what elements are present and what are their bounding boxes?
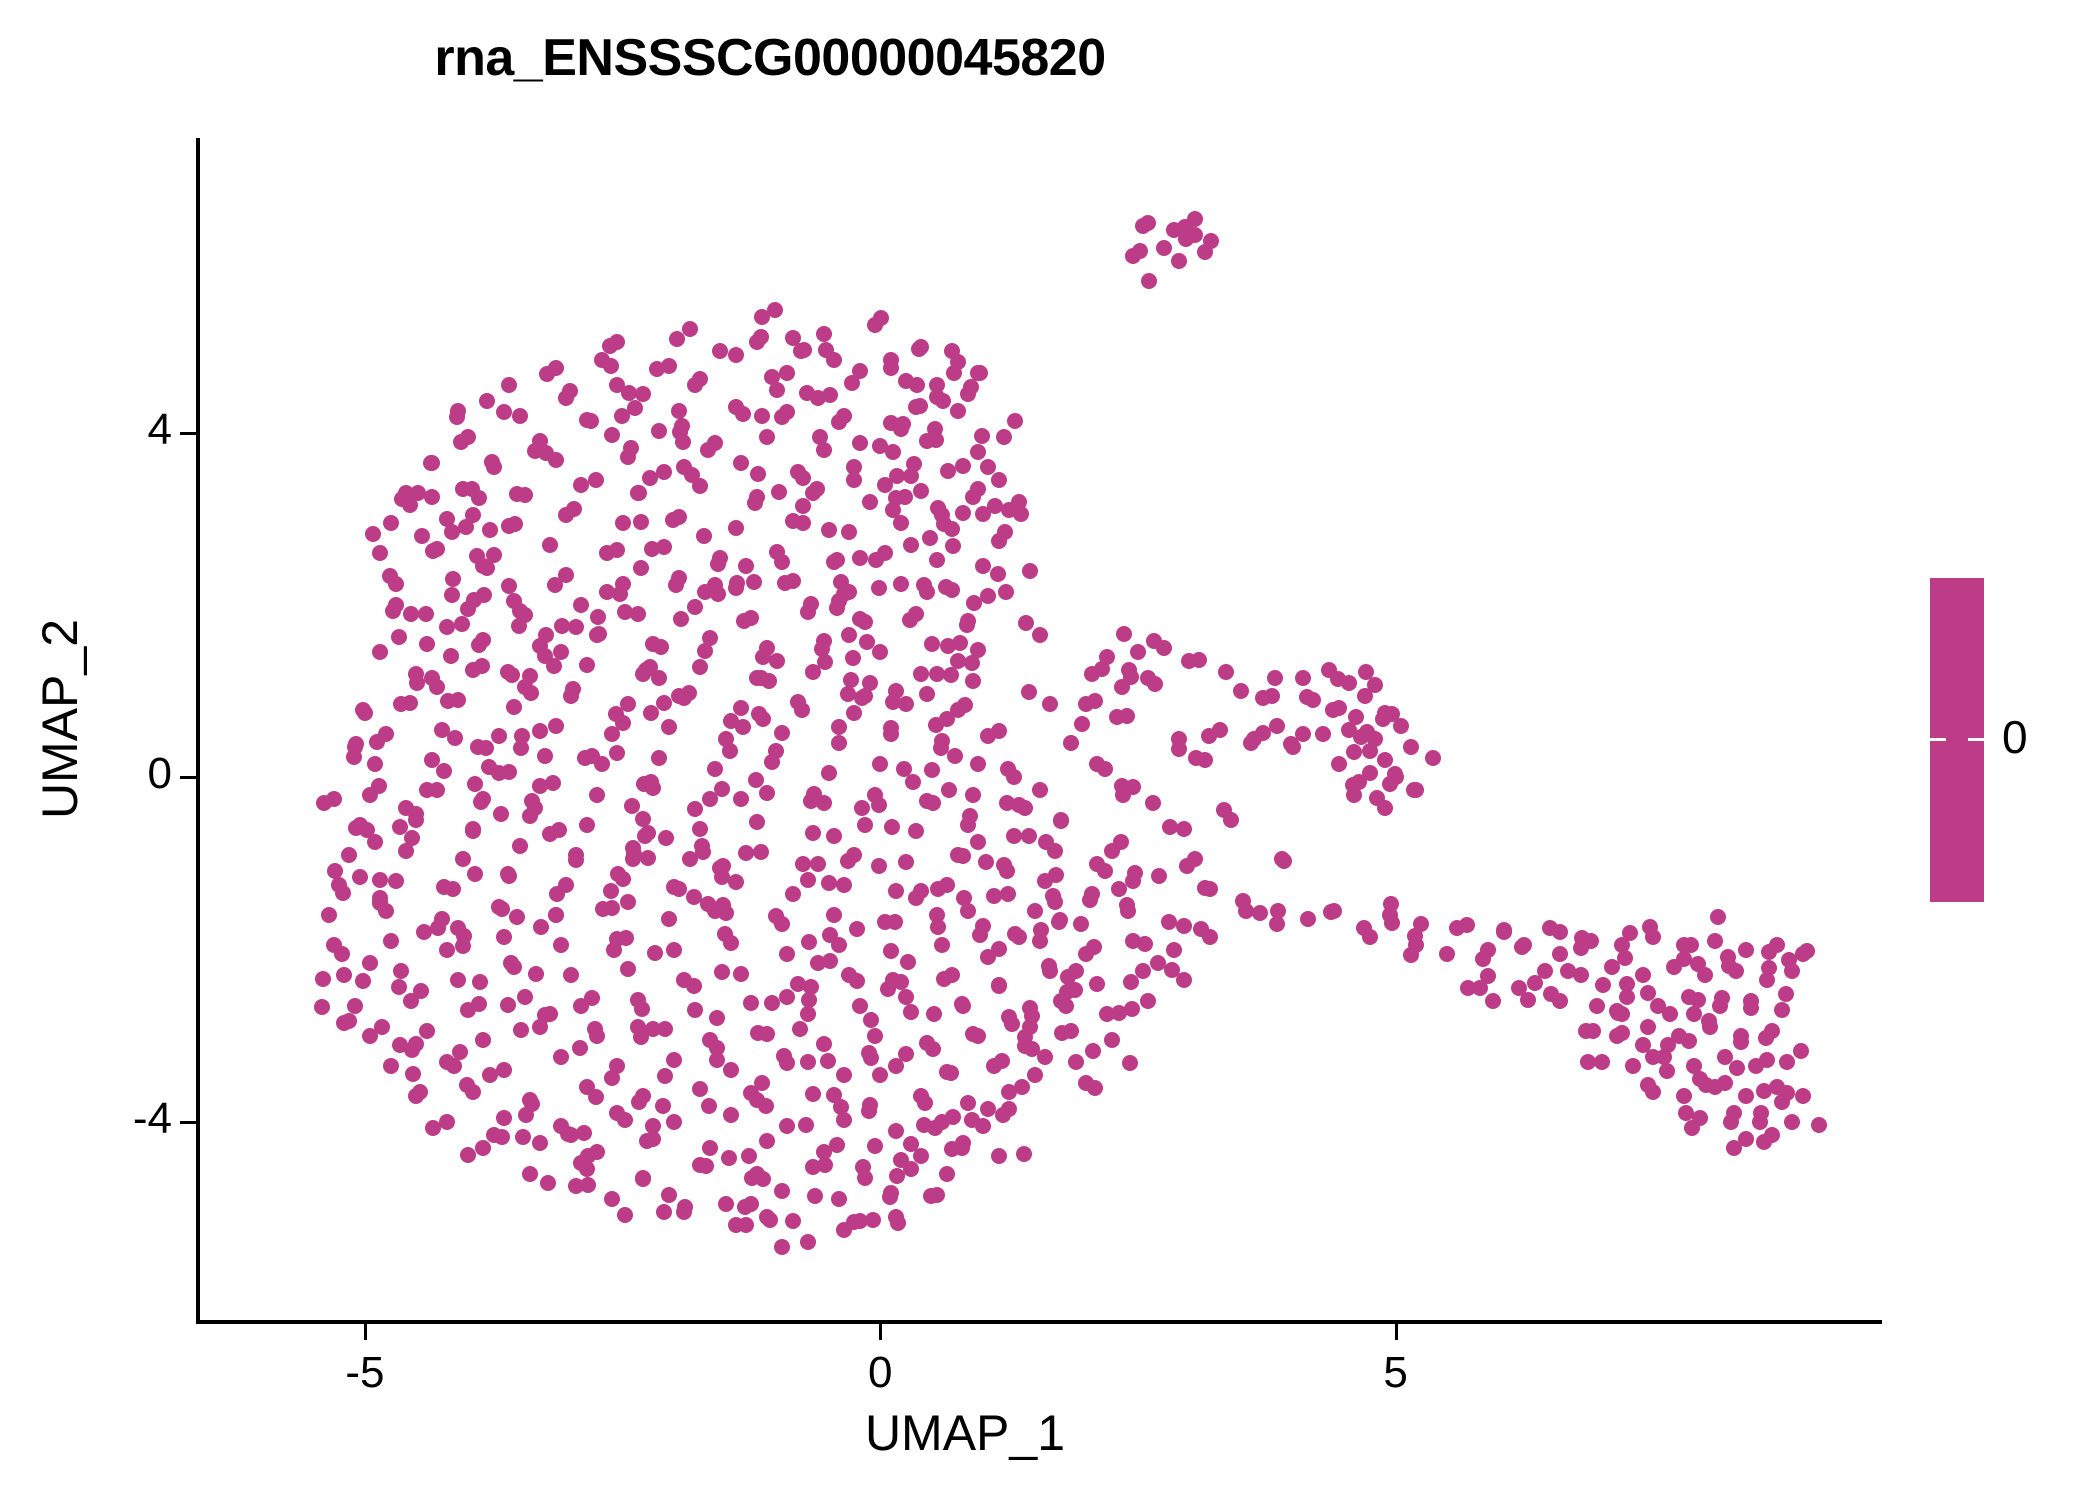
scatter-point — [1779, 1085, 1795, 1101]
scatter-point — [1459, 917, 1475, 933]
scatter-point — [568, 619, 584, 635]
scatter-point — [653, 639, 669, 655]
scatter-point — [1006, 828, 1022, 844]
scatter-point — [528, 966, 544, 982]
scatter-point — [844, 375, 860, 391]
scatter-point — [408, 806, 424, 822]
scatter-point — [774, 1183, 790, 1199]
colorbar-tick-label: 0 — [2002, 710, 2028, 764]
scatter-point — [1574, 930, 1590, 946]
scatter-point — [447, 730, 463, 746]
scatter-point — [657, 1021, 673, 1037]
scatter-point — [666, 1114, 682, 1130]
scatter-point — [1032, 627, 1048, 643]
scatter-point — [1407, 928, 1423, 944]
scatter-point — [547, 577, 563, 593]
scatter-point — [768, 908, 784, 924]
scatter-point — [1137, 936, 1153, 952]
scatter-point — [762, 1212, 778, 1228]
scatter-point — [1021, 828, 1037, 844]
scatter-point — [1353, 729, 1369, 745]
scatter-point — [991, 723, 1007, 739]
scatter-point — [941, 782, 957, 798]
scatter-point — [723, 1062, 739, 1078]
scatter-point — [612, 586, 628, 602]
scatter-point — [603, 883, 619, 899]
scatter-point — [493, 806, 509, 822]
scatter-point — [986, 888, 1002, 904]
scatter-point — [1252, 905, 1268, 921]
scatter-point — [1123, 669, 1139, 685]
scatter-point — [1784, 1114, 1800, 1130]
scatter-point — [1116, 626, 1132, 642]
scatter-point — [944, 1141, 960, 1157]
scatter-point — [1403, 947, 1419, 963]
scatter-point — [374, 1019, 390, 1035]
scatter-point — [429, 782, 445, 798]
scatter-point — [1033, 922, 1049, 938]
scatter-point — [1216, 802, 1232, 818]
scatter-point — [1295, 670, 1311, 686]
scatter-point — [1177, 219, 1193, 235]
scatter-point — [990, 566, 1006, 582]
x-axis-label: UMAP_1 — [0, 1404, 1930, 1462]
scatter-point — [609, 745, 625, 761]
scatter-point — [1024, 1008, 1040, 1024]
scatter-point — [542, 826, 558, 842]
scatter-point — [638, 662, 654, 678]
scatter-point — [539, 366, 555, 382]
scatter-point — [491, 728, 507, 744]
scatter-point — [930, 881, 946, 897]
scatter-point — [621, 385, 637, 401]
scatter-point — [315, 971, 331, 987]
scatter-point — [826, 907, 842, 923]
scatter-point — [964, 655, 980, 671]
scatter-point — [553, 937, 569, 953]
scatter-point — [822, 927, 838, 943]
scatter-point — [573, 1155, 589, 1171]
scatter-point — [1729, 1060, 1745, 1076]
scatter-point — [903, 537, 919, 553]
scatter-point — [565, 681, 581, 697]
scatter-point — [591, 626, 607, 642]
scatter-point — [661, 1187, 677, 1203]
scatter-point — [939, 1166, 955, 1182]
scatter-point — [893, 515, 909, 531]
scatter-point — [439, 1114, 455, 1130]
scatter-point — [865, 1212, 881, 1228]
scatter-point — [735, 406, 751, 422]
scatter-point — [707, 761, 723, 777]
scatter-point — [436, 763, 452, 779]
scatter-point — [355, 702, 371, 718]
scatter-point — [500, 866, 516, 882]
scatter-point — [880, 981, 896, 997]
scatter-point — [1068, 1054, 1084, 1070]
scatter-point — [1472, 980, 1488, 996]
scatter-point — [507, 516, 523, 532]
scatter-point — [1619, 976, 1635, 992]
scatter-point — [409, 675, 425, 691]
scatter-point — [1059, 984, 1075, 1000]
scatter-point — [1283, 736, 1299, 752]
scatter-point — [1362, 743, 1378, 759]
scatter-point — [382, 568, 398, 584]
scatter-point — [959, 617, 975, 633]
scatter-point — [779, 1118, 795, 1134]
scatter-point — [642, 470, 658, 486]
scatter-point — [665, 512, 681, 528]
scatter-point — [336, 967, 352, 983]
scatter-point — [1676, 1088, 1692, 1104]
scatter-point — [501, 377, 517, 393]
scatter-point — [741, 1148, 757, 1164]
scatter-point — [805, 1086, 821, 1102]
scatter-point — [1382, 776, 1398, 792]
scatter-point — [341, 1013, 357, 1029]
scatter-point — [991, 472, 1007, 488]
scatter-point — [1233, 683, 1249, 699]
scatter-point — [887, 914, 903, 930]
scatter-point — [696, 528, 712, 544]
scatter-point — [882, 1189, 898, 1205]
scatter-point — [617, 1112, 633, 1128]
scatter-point — [919, 686, 935, 702]
colorbar-tick-left — [1930, 738, 1946, 741]
scatter-point — [348, 736, 364, 752]
scatter-point — [1721, 958, 1737, 974]
scatter-point — [681, 685, 697, 701]
scatter-point — [728, 874, 744, 890]
scatter-point — [692, 1081, 708, 1097]
scatter-point — [884, 819, 900, 835]
scatter-point — [1625, 1058, 1641, 1074]
scatter-point — [473, 794, 489, 810]
scatter-point — [935, 393, 951, 409]
scatter-point — [924, 762, 940, 778]
scatter-point — [472, 974, 488, 990]
scatter-point — [439, 619, 455, 635]
scatter-point — [1127, 865, 1143, 881]
scatter-point — [893, 1152, 909, 1168]
scatter-point — [1726, 1140, 1742, 1156]
scatter-point — [795, 515, 811, 531]
scatter-point — [1051, 914, 1067, 930]
scatter-point — [966, 595, 982, 611]
scatter-point — [1097, 863, 1113, 879]
scatter-point — [749, 814, 765, 830]
scatter-point — [1007, 413, 1023, 429]
scatter-point — [1086, 939, 1102, 955]
scatter-point — [996, 429, 1012, 445]
scatter-point — [972, 927, 988, 943]
scatter-point — [655, 1098, 671, 1114]
scatter-point — [634, 1001, 650, 1017]
scatter-point — [509, 486, 525, 502]
scatter-point — [955, 458, 971, 474]
scatter-point — [1162, 819, 1178, 835]
scatter-point — [553, 1049, 569, 1065]
scatter-point — [595, 901, 611, 917]
scatter-point — [769, 653, 785, 669]
scatter-point — [1778, 986, 1794, 1002]
scatter-point — [927, 1120, 943, 1136]
scatter-point — [709, 1010, 725, 1026]
scatter-point — [955, 848, 971, 864]
scatter-point — [970, 834, 986, 850]
scatter-point — [863, 1050, 879, 1066]
scatter-point — [584, 990, 600, 1006]
scatter-point — [906, 456, 922, 472]
scatter-point — [1053, 813, 1069, 829]
scatter-point — [355, 973, 371, 989]
scatter-point — [602, 338, 618, 354]
scatter-point — [779, 404, 795, 420]
scatter-point — [419, 636, 435, 652]
scatter-point — [800, 872, 816, 888]
scatter-point — [738, 1217, 754, 1233]
scatter-point — [764, 369, 780, 385]
scatter-point — [779, 365, 795, 381]
scatter-point — [975, 558, 991, 574]
scatter-point — [548, 718, 564, 734]
scatter-point — [764, 995, 780, 1011]
x-tick-mark — [879, 1324, 882, 1340]
scatter-point — [687, 1002, 703, 1018]
scatter-point — [831, 719, 847, 735]
scatter-point — [512, 838, 528, 854]
scatter-point — [465, 823, 481, 839]
scatter-point — [889, 468, 905, 484]
scatter-point — [922, 530, 938, 546]
scatter-point — [449, 409, 465, 425]
chart-root: rna_ENSSSCG00000045820 40-4 -505 UMAP_1 … — [0, 0, 2100, 1500]
scatter-point — [658, 830, 674, 846]
scatter-point — [776, 1048, 792, 1064]
scatter-point — [701, 1098, 717, 1114]
scatter-point — [577, 750, 593, 766]
scatter-point — [908, 823, 924, 839]
scatter-point — [590, 609, 606, 625]
scatter-point — [1089, 976, 1105, 992]
scatter-point — [1726, 1105, 1742, 1121]
scatter-point — [640, 850, 656, 866]
scatter-point — [1614, 1025, 1630, 1041]
scatter-point — [588, 472, 604, 488]
scatter-point — [1176, 918, 1192, 934]
scatter-point — [413, 983, 429, 999]
scatter-point — [1403, 739, 1419, 755]
scatter-point — [1752, 1114, 1768, 1130]
scatter-point — [911, 341, 927, 357]
scatter-point — [738, 845, 754, 861]
scatter-point — [801, 934, 817, 950]
scatter-point — [346, 749, 362, 765]
scatter-point — [852, 550, 868, 566]
scatter-point — [562, 383, 578, 399]
scatter-point — [537, 748, 553, 764]
scatter-point — [388, 873, 404, 889]
scatter-point — [1021, 684, 1037, 700]
scatter-point — [1690, 992, 1706, 1008]
scatter-point — [1082, 892, 1098, 908]
scatter-point — [1119, 897, 1135, 913]
scatter-point — [1041, 958, 1057, 974]
scatter-point — [771, 484, 787, 500]
scatter-point — [733, 455, 749, 471]
scatter-point — [1406, 782, 1422, 798]
scatter-point — [750, 1025, 766, 1041]
scatter-point — [459, 1077, 475, 1093]
scatter-point — [721, 1150, 737, 1166]
scatter-point — [1384, 915, 1400, 931]
scatter-point — [800, 1054, 816, 1070]
y-tick-label: 4 — [0, 405, 196, 455]
scatter-point — [888, 883, 904, 899]
scatter-point — [946, 365, 962, 381]
scatter-point — [991, 1148, 1007, 1164]
scatter-point — [627, 400, 643, 416]
scatter-point — [1560, 963, 1576, 979]
scatter-point — [1087, 693, 1103, 709]
scatter-point — [1171, 253, 1187, 269]
scatter-point — [1032, 782, 1048, 798]
scatter-point — [1779, 1054, 1795, 1070]
scatter-point — [738, 558, 754, 574]
scatter-point — [908, 890, 924, 906]
scatter-point — [383, 515, 399, 531]
scatter-point — [803, 979, 819, 995]
scatter-point — [994, 1053, 1010, 1069]
scatter-point — [903, 1004, 919, 1020]
scatter-point — [785, 886, 801, 902]
scatter-point — [980, 588, 996, 604]
scatter-point — [509, 909, 525, 925]
scatter-point — [1756, 1083, 1772, 1099]
scatter-point — [1191, 652, 1207, 668]
scatter-point — [1000, 886, 1016, 902]
scatter-point — [829, 1137, 845, 1153]
scatter-point — [494, 1129, 510, 1145]
scatter-point — [978, 854, 994, 870]
scatter-point — [1013, 506, 1029, 522]
scatter-point — [635, 1171, 651, 1187]
scatter-point — [746, 574, 762, 590]
scatter-point — [385, 603, 401, 619]
scatter-point — [831, 1191, 847, 1207]
scatter-point — [1384, 706, 1400, 722]
scatter-point — [454, 616, 470, 632]
scatter-point — [532, 1135, 548, 1151]
scatter-point — [1692, 1071, 1708, 1087]
scatter-point — [871, 797, 887, 813]
scatter-point — [1060, 969, 1076, 985]
scatter-point — [365, 526, 381, 542]
scatter-point — [1300, 911, 1316, 927]
scatter-point — [817, 654, 833, 670]
scatter-point — [518, 1107, 534, 1123]
y-tick-label: 0 — [0, 749, 196, 799]
scatter-point — [821, 875, 837, 891]
scatter-point — [805, 825, 821, 841]
scatter-point — [1124, 1001, 1140, 1017]
y-axis-label: UMAP_2 — [31, 419, 89, 1019]
scatter-point — [314, 999, 330, 1015]
scatter-point — [1147, 676, 1163, 692]
scatter-point — [501, 764, 517, 780]
scatter-point — [1151, 868, 1167, 884]
scatter-point — [1640, 1077, 1656, 1093]
scatter-point — [604, 1070, 620, 1086]
x-tick-label: 0 — [800, 1348, 960, 1398]
scatter-point — [1315, 726, 1331, 742]
scatter-point — [709, 1052, 725, 1068]
scatter-point — [774, 725, 790, 741]
scatter-point — [1659, 1063, 1675, 1079]
scatter-point — [964, 1112, 980, 1128]
scatter-point — [821, 765, 837, 781]
scatter-point — [579, 657, 595, 673]
scatter-point — [889, 1168, 905, 1184]
scatter-point — [1164, 962, 1180, 978]
scatter-point — [1087, 1080, 1103, 1096]
scatter-point — [692, 821, 708, 837]
scatter-point — [1255, 725, 1271, 741]
scatter-point — [717, 926, 733, 942]
scatter-point — [852, 998, 868, 1014]
scatter-point — [620, 961, 636, 977]
scatter-point — [666, 1052, 682, 1068]
scatter-point — [430, 920, 446, 936]
scatter-point — [928, 432, 944, 448]
scatter-point — [341, 847, 357, 863]
scatter-point — [1799, 943, 1815, 959]
scatter-point — [1325, 702, 1341, 718]
scatter-point — [542, 537, 558, 553]
scatter-point — [1276, 853, 1292, 869]
scatter-point — [1270, 903, 1286, 919]
scatter-point — [1345, 777, 1361, 793]
scatter-point — [1123, 974, 1139, 990]
scatter-point — [799, 385, 815, 401]
scatter-point — [669, 331, 685, 347]
scatter-point — [1018, 615, 1034, 631]
scatter-point — [695, 844, 711, 860]
scatter-point — [321, 907, 337, 923]
scatter-point — [1743, 1000, 1759, 1016]
scatter-point — [955, 505, 971, 521]
scatter-point — [515, 1129, 531, 1145]
scatter-point — [987, 498, 1003, 514]
scatter-point — [537, 648, 553, 664]
scatter-point — [841, 524, 857, 540]
scatter-point — [666, 942, 682, 958]
scatter-point — [671, 403, 687, 419]
scatter-point — [631, 485, 647, 501]
scatter-point — [443, 648, 459, 664]
scatter-point — [883, 360, 899, 376]
scatter-point — [912, 398, 928, 414]
scatter-point — [747, 495, 763, 511]
scatter-point — [633, 560, 649, 576]
scatter-point — [1617, 950, 1633, 966]
scatter-point — [952, 635, 968, 651]
scatter-point — [657, 1068, 673, 1084]
scatter-point — [885, 694, 901, 710]
scatter-point — [423, 455, 439, 471]
scatter-point — [840, 853, 856, 869]
